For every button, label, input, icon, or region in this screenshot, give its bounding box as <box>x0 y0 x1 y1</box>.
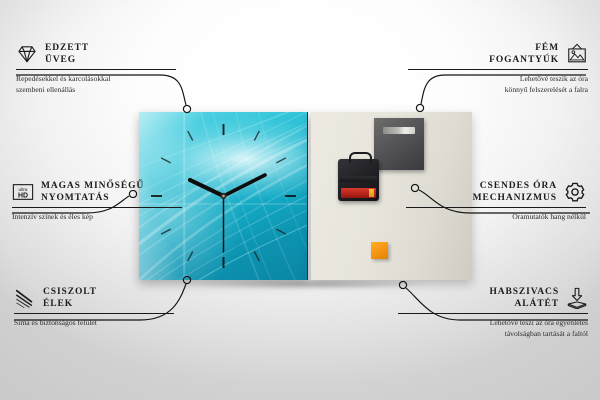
polished-edges-icon <box>14 287 36 309</box>
ultra-hd-icon: ultra HD <box>12 181 34 203</box>
callout-rule <box>406 207 586 208</box>
callout-title-line2: NYOMTATÁS <box>41 192 144 204</box>
callout-desc-line1: Repedésekkel és karcolásokkal <box>16 74 176 85</box>
callout-title-line2: MECHANIZMUS <box>473 192 557 204</box>
svg-text:ultra: ultra <box>19 187 28 192</box>
callout-desc-line2: szembeni ellenállás <box>16 85 176 96</box>
callout-title-line2: ÉLEK <box>43 298 97 310</box>
callout-foam-pad: HABSZIVACS ALÁTÉT Lehetővé teszi az óra … <box>398 286 588 339</box>
mechanism-hanging-loop <box>349 152 372 163</box>
callout-desc-line2: könnyű felszerelését a falra <box>408 85 588 96</box>
callout-quiet-mechanism: CSENDES ÓRA MECHANIZMUS Óramutatók hang … <box>406 180 586 223</box>
callout-metal-handles: FÉM FOGANTYÚK Lehetővé teszik az óra kön… <box>408 42 588 95</box>
callout-title-line1: CSENDES ÓRA <box>473 180 557 192</box>
callout-rule <box>12 207 182 208</box>
callout-tempered-glass: EDZETT ÜVEG Repedésekkel és karcolásokka… <box>16 42 176 95</box>
callout-rule <box>16 69 176 70</box>
callout-desc-line1: Intenzív színek és éles kép <box>12 212 182 223</box>
hanger-slot <box>383 127 415 134</box>
callout-desc-line1: Sima és biztonságos felület <box>14 318 174 329</box>
callout-title-line2: ALÁTÉT <box>489 298 559 310</box>
callout-rule <box>408 69 588 70</box>
callout-title-line2: FOGANTYÚK <box>489 54 559 66</box>
diamond-icon <box>16 43 38 65</box>
callout-rule <box>14 313 174 314</box>
clock-side-edge <box>307 112 308 280</box>
foam-pad-arrow-icon <box>566 287 588 309</box>
infographic-canvas: EDZETT ÜVEG Repedésekkel és karcolásokka… <box>0 0 600 400</box>
callout-desc-line2: távolságban tartását a faltól <box>398 329 588 340</box>
callout-high-quality-print: ultra HD MAGAS MINŐSÉGŰ NYOMTATÁS Intenz… <box>12 180 182 223</box>
callout-title-line1: EDZETT <box>45 42 89 54</box>
callout-rule <box>398 313 588 314</box>
callout-desc-line1: Lehetővé teszi az óra egyenletes <box>398 318 588 329</box>
callout-desc-line1: Óramutatók hang nélkül <box>406 212 586 223</box>
callout-title-line1: FÉM <box>489 42 559 54</box>
gear-icon <box>564 181 586 203</box>
callout-desc-line1: Lehetővé teszik az óra <box>408 74 588 85</box>
battery <box>341 188 376 198</box>
callout-title-line1: MAGAS MINŐSÉGŰ <box>41 180 144 192</box>
callout-title-line2: ÜVEG <box>45 54 89 66</box>
callout-title-line1: CSISZOLT <box>43 286 97 298</box>
svg-text:HD: HD <box>18 193 28 200</box>
metal-hanger-plate <box>374 118 424 170</box>
clock-mechanism-box <box>338 159 379 201</box>
callout-title-line1: HABSZIVACS <box>489 286 559 298</box>
picture-hanger-icon <box>566 43 588 65</box>
callout-polished-edges: CSISZOLT ÉLEK Sima és biztonságos felüle… <box>14 286 174 329</box>
foam-spacer-pad <box>371 242 388 259</box>
mechanism-band <box>340 176 377 182</box>
